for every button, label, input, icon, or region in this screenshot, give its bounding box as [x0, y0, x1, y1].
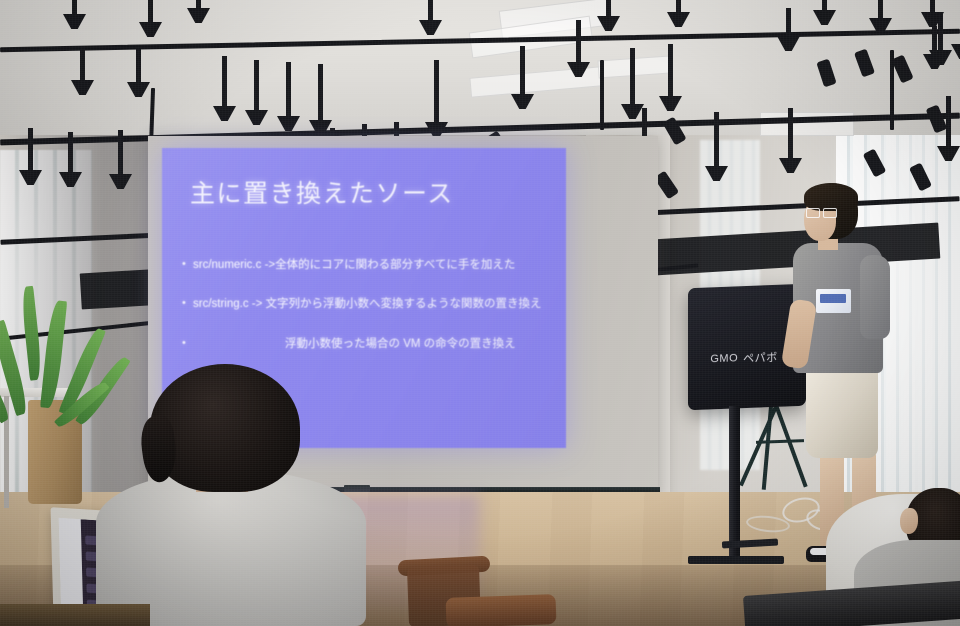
presenter-name-badge — [816, 289, 851, 313]
ceiling-lamp — [68, 132, 73, 174]
ceiling-lamp — [714, 112, 719, 168]
lectern-post — [729, 406, 740, 562]
lectern-logo-primary: GMO — [710, 352, 738, 365]
bullet-marker-icon: • — [182, 297, 193, 311]
ceiling-lamp — [630, 48, 635, 106]
lectern-base — [688, 556, 784, 564]
ceiling-lamp — [136, 46, 141, 84]
ceiling-lamp — [938, 14, 943, 52]
slide-bullet-item: • 浮動小数使った場合の VM の命令の置き換え — [182, 337, 562, 351]
ceiling-lamp — [148, 0, 153, 24]
ceiling-lamp — [28, 128, 33, 172]
slide-bullet-text: src/string.c -> 文字列から浮動小数へ変換するような関数の置き換え — [193, 297, 562, 311]
ceiling-lamp — [786, 8, 791, 38]
ceiling-lamp — [788, 108, 793, 160]
ceiling-lamp — [878, 0, 883, 20]
ceiling-lamp — [520, 46, 525, 96]
ceiling-lamp — [196, 0, 201, 10]
ceiling-lamp — [434, 60, 439, 124]
foreground-table-left — [0, 604, 150, 626]
ceiling-lamp — [932, 26, 937, 56]
presentation-photo-scene: 主に置き換えたソース • src/numeric.c ->全体的にコアに関わる部… — [0, 0, 960, 626]
ceiling-lamp — [72, 0, 77, 16]
ceiling-lamp — [676, 0, 681, 14]
ceiling-lamp — [118, 130, 123, 176]
bullet-marker-icon: • — [182, 337, 193, 351]
glasses-icon — [806, 208, 836, 216]
slide-bullet-list: • src/numeric.c ->全体的にコアに関わる部分すべてに手を加えた … — [182, 258, 562, 376]
bullet-marker-icon: • — [182, 258, 193, 272]
audience-member-foreground-body — [96, 470, 366, 626]
slide-bullet-item: • src/string.c -> 文字列から浮動小数へ変換するような関数の置き… — [182, 297, 562, 311]
slide-bullet-item: • src/numeric.c ->全体的にコアに関わる部分すべてに手を加えた — [182, 258, 562, 272]
slide-bullet-text: src/numeric.c ->全体的にコアに関わる部分すべてに手を加えた — [193, 258, 562, 272]
laptop-app-sidebar — [59, 518, 84, 618]
ceiling-lamp — [318, 64, 323, 122]
audience-member-ear — [900, 508, 918, 534]
lectern-logo-secondary: ペパボ — [743, 348, 778, 365]
presenter-sleeve — [860, 255, 890, 339]
ceiling-lamp — [822, 0, 827, 12]
lectern-logo: GMO ペパボ — [698, 347, 790, 368]
ceiling-lamp — [576, 20, 581, 64]
ceiling-lamp — [946, 96, 951, 148]
ceiling-lamp — [930, 0, 935, 14]
ceiling-lamp — [668, 44, 673, 98]
slide-bullet-text: 浮動小数使った場合の VM の命令の置き換え — [193, 337, 562, 351]
projection-screen-clip — [344, 485, 370, 492]
ceiling-lamp — [222, 56, 227, 108]
ceiling-lamp — [254, 60, 259, 112]
chair-seat — [446, 594, 557, 626]
presenter-hair — [804, 183, 858, 211]
ceiling-rail-vertical — [600, 60, 604, 130]
ceiling-lamp — [80, 46, 85, 82]
slide-title: 主に置き換えたソース — [190, 174, 454, 210]
ceiling-lamp — [606, 0, 611, 18]
ceiling-lamp — [428, 0, 433, 22]
ceiling-lamp — [286, 62, 291, 118]
